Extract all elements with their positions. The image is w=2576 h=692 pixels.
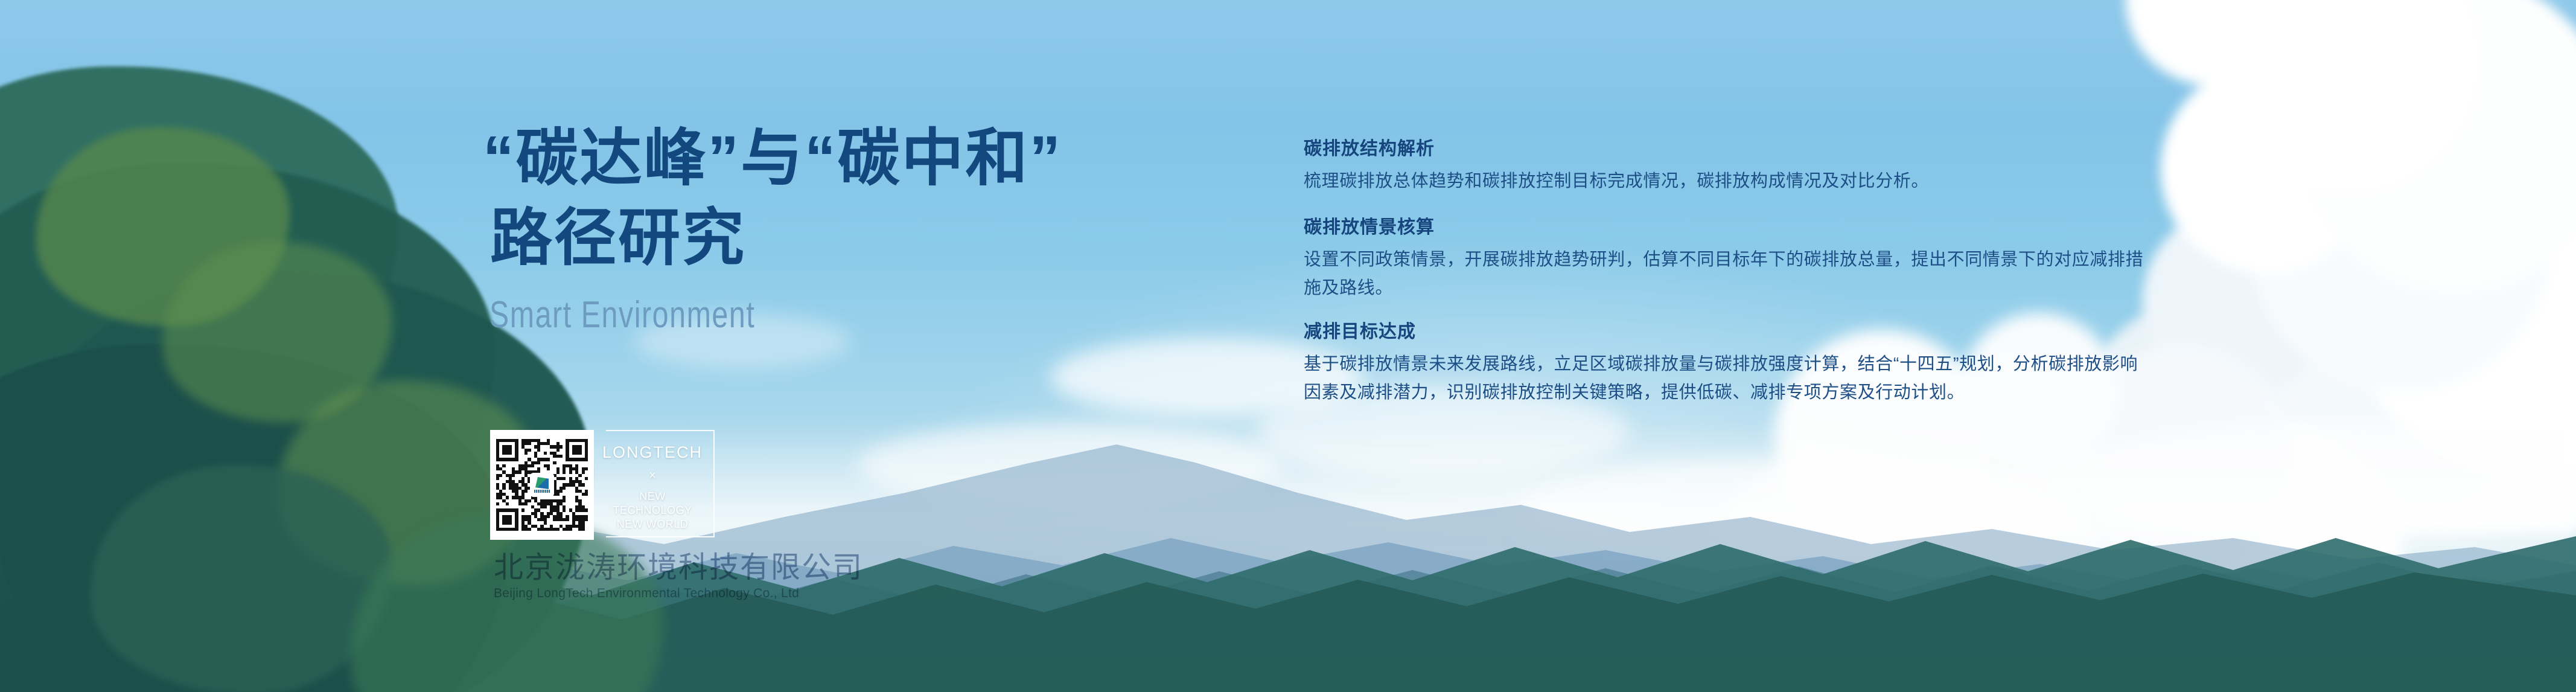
brand-tagline: NEW TECHNOLOGY NEW WORLD xyxy=(596,490,709,531)
section-scenario-accounting: 碳排放情景核算 设置不同政策情景，开展碳排放趋势研判，估算不同目标年下的碳排放总… xyxy=(1304,216,2197,303)
section-reduction-target: 减排目标达成 基于碳排放情景未来发展路线，立足区域碳排放量与碳排放强度计算，结合… xyxy=(1304,321,2197,407)
section-heading: 碳排放情景核算 xyxy=(1304,216,2197,239)
section-carbon-structure: 碳排放结构解析 梳理碳排放总体趋势和碳排放控制目标完成情况，碳排放构成情况及对比… xyxy=(1304,138,2197,196)
longtech-logo-wordmark xyxy=(534,490,550,493)
qr-code-matrix xyxy=(496,439,588,531)
section-heading: 减排目标达成 xyxy=(1304,321,2197,343)
qr-center-logo xyxy=(530,473,554,497)
section-body: 梳理碳排放总体趋势和碳排放控制目标完成情况，碳排放构成情况及对比分析。 xyxy=(1304,167,2149,196)
brand-tagline-line-2: TECHNOLOGY xyxy=(596,504,709,517)
qr-code-card[interactable] xyxy=(490,430,594,540)
longtech-logo-mark xyxy=(535,477,549,489)
title-line-1: “碳达峰”与“碳中和” xyxy=(483,118,1237,198)
content-column: 碳排放结构解析 梳理碳排放总体趋势和碳排放控制目标完成情况，碳排放构成情况及对比… xyxy=(1304,138,2197,407)
section-body: 基于碳排放情景未来发展路线，立足区域碳排放量与碳排放强度计算，结合“十四五”规划… xyxy=(1304,350,2149,407)
brand-slogan-inner: LONGTECH × NEW TECHNOLOGY NEW WORLD xyxy=(596,444,709,531)
title-block: “碳达峰”与“碳中和” 路径研究 Smart Environment xyxy=(483,118,1237,336)
brand-tagline-line-1: NEW xyxy=(596,490,709,504)
section-body: 设置不同政策情景，开展碳排放趋势研判，估算不同目标年下的碳排放总量，提出不同情景… xyxy=(1304,246,2149,303)
brand-separator-icon: × xyxy=(596,469,709,482)
brand-name: LONGTECH xyxy=(596,444,709,461)
brand-tagline-line-3: NEW WORLD xyxy=(596,517,709,531)
brand-slogan-box: LONGTECH × NEW TECHNOLOGY NEW WORLD xyxy=(606,430,715,537)
company-watermark: 北京泷涛环境科技有限公司 Beijing LongTech Environmen… xyxy=(494,553,863,600)
watermark-chinese: 北京泷涛环境科技有限公司 xyxy=(494,553,863,583)
watermark-english: Beijing LongTech Environmental Technolog… xyxy=(494,587,863,600)
banner-stage: “碳达峰”与“碳中和” 路径研究 Smart Environment LONGT… xyxy=(0,0,2576,692)
title-line-2: 路径研究 xyxy=(483,198,1237,278)
section-heading: 碳排放结构解析 xyxy=(1304,138,2197,160)
subtitle: Smart Environment xyxy=(483,293,1071,336)
